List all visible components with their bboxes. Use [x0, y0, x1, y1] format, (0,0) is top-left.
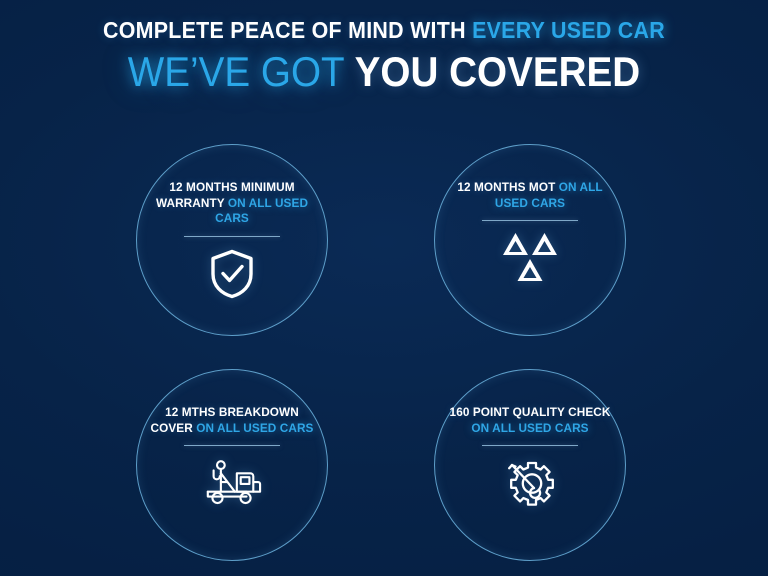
shield-check-icon: [202, 246, 262, 302]
feature-circle-warranty[interactable]: 12 MONTHS MINIMUM WARRANTY ON ALL USED C…: [136, 144, 328, 336]
headline-line-1-white: COMPLETE PEACE OF MIND WITH: [103, 17, 472, 43]
headline-line-1-accent: EVERY USED CAR: [472, 17, 665, 43]
tow-truck-icon: [202, 455, 262, 511]
feature-content: 12 MONTHS MOT ON ALL USED CARS: [434, 180, 626, 286]
feature-text: 12 MONTHS MOT ON ALL USED CARS: [442, 180, 619, 211]
feature-divider: [482, 220, 578, 221]
feature-text: 160 POINT QUALITY CHECK ON ALL USED CARS: [442, 405, 619, 436]
feature-circle-breakdown[interactable]: 12 MTHS BREAKDOWN COVER ON ALL USED CARS: [136, 369, 328, 561]
gear-wrench-icon: [500, 455, 560, 511]
feature-text-white: 12 MONTHS MOT: [457, 180, 558, 194]
feature-divider: [184, 236, 280, 237]
feature-content: 12 MONTHS MINIMUM WARRANTY ON ALL USED C…: [136, 180, 328, 302]
headline-line-1: COMPLETE PEACE OF MIND WITH EVERY USED C…: [27, 18, 741, 43]
feature-content: 12 MTHS BREAKDOWN COVER ON ALL USED CARS: [136, 405, 328, 511]
feature-circle-quality-check[interactable]: 160 POINT QUALITY CHECK ON ALL USED CARS: [434, 369, 626, 561]
headline-line-2-white: YOU COVERED: [355, 48, 641, 95]
feature-text: 12 MTHS BREAKDOWN COVER ON ALL USED CARS: [144, 405, 321, 436]
feature-grid: 12 MONTHS MINIMUM WARRANTY ON ALL USED C…: [0, 138, 768, 568]
feature-circle-mot[interactable]: 12 MONTHS MOT ON ALL USED CARS: [434, 144, 626, 336]
promo-banner: COMPLETE PEACE OF MIND WITH EVERY USED C…: [0, 0, 768, 576]
headline-line-2-blue: WE’VE GOT: [128, 48, 355, 95]
feature-text-blue: ON ALL USED CARS: [471, 421, 588, 435]
feature-content: 160 POINT QUALITY CHECK ON ALL USED CARS: [434, 405, 626, 511]
headline-line-2: WE’VE GOT YOU COVERED: [31, 50, 738, 94]
feature-text-blue: ON ALL USED CARS: [215, 196, 308, 226]
feature-divider: [482, 445, 578, 446]
feature-text-white: 160 POINT QUALITY CHECK: [450, 405, 611, 419]
headline-block: COMPLETE PEACE OF MIND WITH EVERY USED C…: [0, 18, 768, 94]
mot-trefoil-icon: [500, 230, 560, 286]
feature-divider: [184, 445, 280, 446]
feature-text-blue: ON ALL USED CARS: [196, 421, 313, 435]
feature-text: 12 MONTHS MINIMUM WARRANTY ON ALL USED C…: [144, 180, 321, 227]
